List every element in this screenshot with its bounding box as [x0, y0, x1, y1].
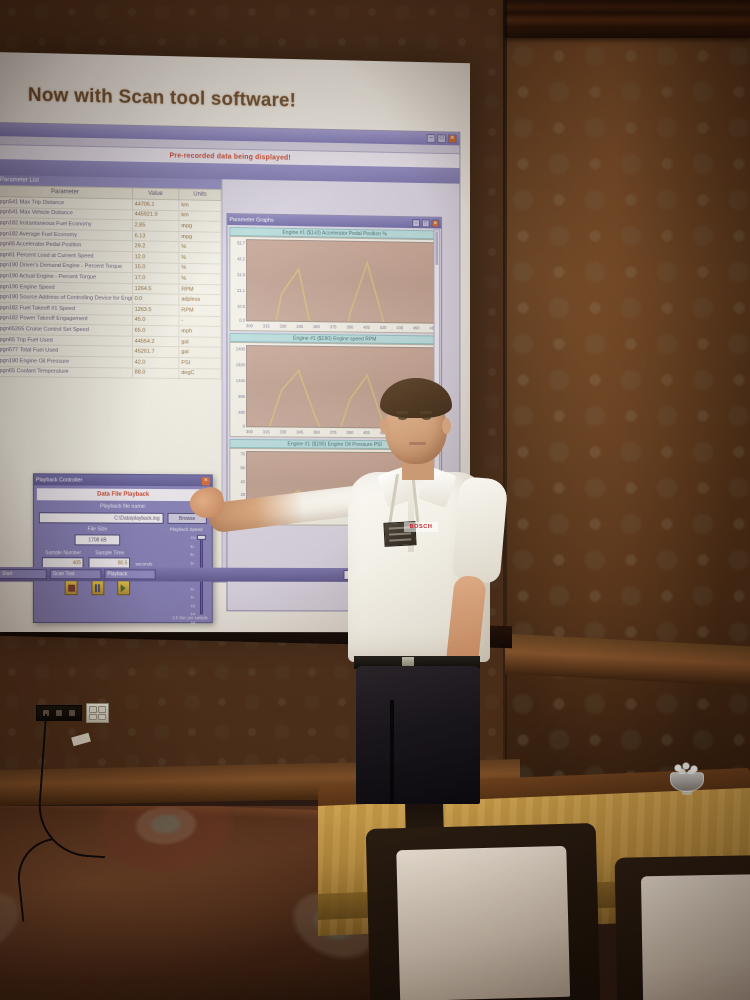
cell-value: 1263.5: [132, 304, 179, 315]
charts-titlebar[interactable]: Parameter Graphs – □ ✕: [227, 214, 441, 228]
chair-upholstery: [396, 845, 570, 1000]
file-path-input[interactable]: C:\Data\playback.log: [39, 512, 164, 524]
cell-units: %: [179, 252, 221, 263]
cell-parameter: pgn65 Coolant Temperature: [0, 366, 132, 378]
x-tick: 375: [330, 324, 337, 329]
file-label: Playback file name:: [34, 503, 212, 510]
chair: [615, 854, 750, 1000]
playback-footnote: 2.5 Sec per sample: [172, 615, 207, 620]
cell-value: 44554.2: [132, 336, 179, 347]
x-tick: 345: [296, 430, 303, 435]
y-axis: 2400 1920 1440 960 480 0: [230, 343, 246, 436]
sample-time-unit: seconds: [135, 561, 152, 566]
y-tick: 0.0: [239, 317, 245, 322]
sample-number-label: Sample Number: [42, 550, 84, 556]
cell-value: 12.0: [132, 252, 179, 263]
cell-units: degC: [179, 368, 221, 379]
playback-dialog: Playback Controller ✕ Data File Playback…: [33, 473, 213, 623]
x-tick: 405: [363, 325, 370, 330]
cell-units: %: [179, 263, 221, 274]
x-tick: 315: [263, 323, 270, 328]
filesize-value: 1708 kB: [75, 534, 121, 545]
x-tick: 300: [246, 429, 253, 434]
speed-tick: 6x: [190, 553, 196, 557]
taskbar-item-scan-tool[interactable]: Scan Tool: [50, 569, 102, 579]
charts-window-title: Parameter Graphs: [229, 217, 273, 224]
chair-upholstery: [641, 874, 750, 1000]
outlet-socket: [98, 706, 106, 713]
x-axis: 300 315 330 345 360 375 390 405 420 43: [246, 321, 436, 332]
trousers: [356, 666, 480, 804]
scrollbar-thumb[interactable]: [435, 231, 438, 264]
mouth: [409, 442, 426, 445]
badge-line: [389, 538, 411, 541]
x-tick: 330: [280, 429, 287, 434]
chart-accelerator-pedal-position: Engine #1 ($1x0) Accelerator Pedal Posit…: [229, 227, 439, 334]
cell-value: 1264.5: [132, 283, 179, 294]
pause-icon: [95, 584, 100, 592]
file-row: C:\Data\playback.log Browse: [39, 512, 207, 524]
x-tick: 360: [313, 430, 320, 435]
cell-value: 45.0: [132, 315, 179, 326]
crown-molding: [505, 0, 750, 38]
y-axis: 52.7 42.2 31.6 21.1 10.5 0.0: [230, 237, 246, 330]
bosch-logo: BOSCH: [404, 522, 438, 532]
dialog-middle: File Size 1708 kB Sample Number 405 Samp…: [34, 526, 212, 595]
table-body: pgn541 Max Trip Distance44706.1km pgn541…: [0, 197, 221, 379]
y-tick: 31.6: [237, 272, 245, 277]
x-tick: 435: [396, 325, 403, 330]
speed-tick: 1/2: [190, 604, 196, 608]
y-tick: 56: [240, 465, 245, 470]
x-tick: 450: [413, 325, 420, 330]
close-icon[interactable]: ✕: [202, 477, 210, 485]
y-tick: 21.1: [237, 288, 245, 293]
dialog-titlebar[interactable]: Playback Controller ✕: [34, 474, 212, 486]
sample-time-label: Sample Time: [89, 550, 131, 556]
cell-value: 42.0: [132, 357, 179, 368]
x-tick: 360: [313, 324, 320, 329]
y-tick: 480: [238, 409, 245, 414]
cell-units: km: [179, 210, 221, 221]
pause-button[interactable]: [91, 580, 104, 595]
x-tick: 300: [246, 323, 253, 328]
taskbar-item-playback[interactable]: Playback: [104, 569, 155, 579]
titlebar-spacer: [276, 220, 411, 222]
eye-left: [398, 416, 407, 420]
x-tick: 390: [346, 325, 353, 330]
chair-frame: [615, 854, 750, 1000]
column-header-units: Units: [179, 189, 221, 201]
trouser-seam: [390, 700, 394, 804]
speed-tick: 10x: [190, 536, 196, 540]
close-icon[interactable]: ✕: [432, 219, 440, 227]
y-tick: 42: [240, 479, 245, 484]
y-tick: 28: [240, 492, 245, 497]
playback-speed-slider[interactable]: Playback Speed 10x 8x 6x 5x 4x 3x 2x 1x: [161, 527, 212, 596]
sample-time-field: Sample Time 80.5: [89, 550, 131, 568]
minimize-icon[interactable]: –: [427, 134, 436, 143]
sample-fields: Sample Number 405 Sample Time 80.5 secon…: [34, 550, 161, 568]
play-icon: [121, 584, 126, 592]
presenter: BOSCH: [330, 370, 540, 800]
cell-units: adpless: [179, 294, 221, 305]
parameter-table: Parameter Value Units pgn541 Max Trip Di…: [0, 185, 222, 379]
y-tick: 70: [240, 452, 245, 457]
eye-right: [422, 416, 431, 420]
cell-units: %: [179, 242, 221, 253]
x-tick: 315: [263, 429, 270, 434]
page-title: Now with Scan tool software!: [28, 85, 296, 113]
speed-tick: 5x: [190, 561, 196, 565]
cell-value: 2.85: [132, 220, 179, 231]
cell-units: mph: [179, 326, 221, 337]
table-row[interactable]: pgn65 Coolant Temperature88.0degC: [0, 366, 221, 379]
banquet-table-group: [318, 786, 750, 1000]
x-tick: 345: [296, 324, 303, 329]
dialog-left-column: File Size 1708 kB Sample Number 405 Samp…: [34, 526, 161, 595]
glass-bowl: [670, 772, 704, 792]
cell-units: gal: [179, 347, 221, 358]
chair: [366, 823, 601, 1000]
ear-left: [380, 418, 389, 434]
dialog-banner: Data File Playback: [37, 488, 209, 501]
room-scene: Now with Scan tool software! – □ ✕ Pre-r…: [0, 0, 750, 1000]
stop-button[interactable]: [65, 580, 78, 595]
x-tick: 330: [280, 324, 287, 329]
cell-units: %: [179, 273, 221, 284]
cell-value: 88.0: [132, 368, 179, 379]
cell-value: 0.0: [132, 294, 179, 305]
y-tick: 10.5: [237, 303, 245, 308]
chart-plot-area: 52.7 42.2 31.6 21.1 10.5 0.0: [229, 236, 439, 334]
y-tick: 42.2: [237, 256, 245, 261]
cell-value: 445921.9: [132, 209, 179, 220]
ear-right: [442, 418, 451, 434]
maximize-icon[interactable]: □: [437, 134, 446, 143]
cell-value: 15.0: [132, 262, 179, 273]
speed-tick: 2x: [190, 587, 196, 591]
column-header-value: Value: [132, 188, 179, 200]
cell-units: RPM: [179, 284, 221, 295]
y-tick: 52.7: [237, 240, 245, 245]
cell-units: gal: [179, 336, 221, 347]
minimize-icon[interactable]: –: [412, 219, 420, 227]
dialog-title: Playback Controller: [36, 477, 202, 484]
play-button[interactable]: [117, 580, 130, 595]
hair: [380, 378, 452, 418]
cell-value: 44706.1: [132, 199, 179, 210]
bowl-foot: [682, 791, 692, 795]
maximize-icon[interactable]: □: [422, 219, 430, 227]
cell-value: 65.0: [132, 325, 179, 336]
eyebrow-left: [396, 411, 408, 414]
filesize-label: File Size: [34, 526, 161, 533]
speed-tick: 1x: [190, 596, 196, 600]
mint-bowl: [670, 762, 704, 792]
slider-thumb[interactable]: [197, 535, 206, 540]
cell-units: -: [179, 315, 221, 326]
cell-units: mpg: [179, 221, 221, 232]
sample-number-field: Sample Number 405: [42, 550, 84, 568]
y-tick: 2400: [236, 346, 245, 351]
cell-units: km: [179, 200, 221, 211]
chair-frame: [366, 823, 601, 1000]
y-tick: 960: [238, 394, 245, 399]
cell-units: PSI: [179, 358, 221, 369]
series-line: [247, 240, 435, 324]
plot-canvas: [246, 239, 436, 324]
close-icon[interactable]: ✕: [448, 134, 457, 143]
y-tick: 1440: [236, 378, 245, 383]
y-tick: 1920: [236, 362, 245, 367]
stop-icon: [68, 584, 75, 591]
right-sleeve: [452, 476, 509, 584]
eyebrow-right: [420, 411, 432, 414]
badge-line: [389, 532, 411, 535]
cell-value: 17.0: [132, 273, 179, 284]
cell-units: RPM: [179, 305, 221, 316]
x-tick: 420: [380, 325, 387, 330]
y-tick: 0: [243, 423, 245, 428]
speed-tick: 1/8: [190, 621, 196, 625]
cell-value: 29.2: [132, 241, 179, 252]
start-button[interactable]: Start: [0, 569, 47, 579]
speed-label: Playback Speed: [161, 527, 212, 532]
cell-units: mpg: [179, 231, 221, 242]
cell-value: 6.13: [132, 231, 179, 242]
cell-value: 45261.7: [132, 346, 179, 357]
speed-tick: 8x: [190, 544, 196, 548]
outlet-socket: [89, 706, 97, 713]
